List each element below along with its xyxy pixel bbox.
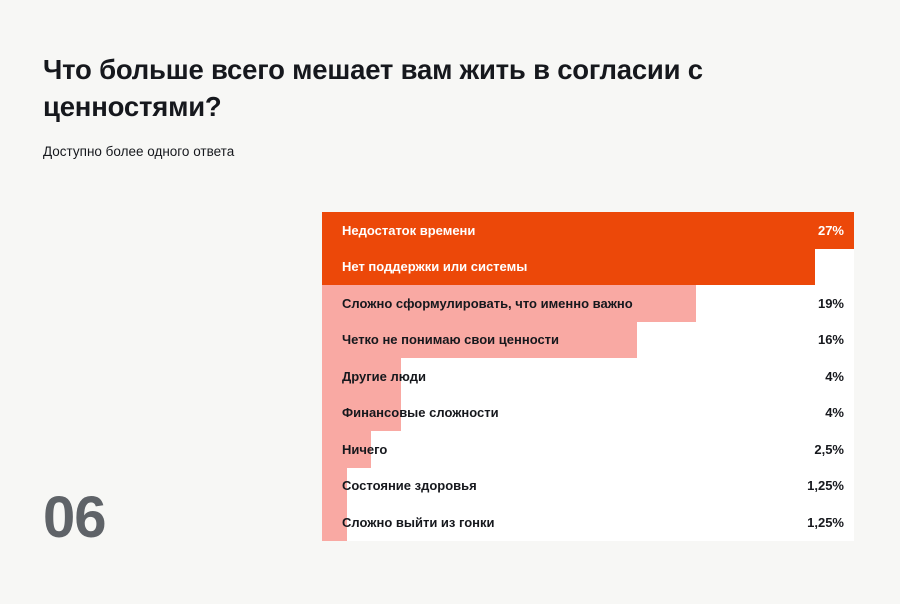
bar-category-label: Нет поддержки или системы	[342, 249, 527, 286]
bar-value-label: 25%	[818, 249, 844, 286]
bar-row: Финансовые сложности4%	[322, 395, 854, 432]
bar-value-label: 27%	[818, 212, 844, 249]
bar-row: Сложно сформулировать, что именно важно1…	[322, 285, 854, 322]
bar-row: Недостаток времени27%	[322, 212, 854, 249]
bar-category-label: Ничего	[342, 431, 387, 468]
bar-row: Сложно выйти из гонки1,25%	[322, 504, 854, 541]
page-title: Что больше всего мешает вам жить в согла…	[43, 52, 833, 125]
bar-category-label: Четко не понимаю свои ценности	[342, 322, 559, 359]
bar-row: Четко не понимаю свои ценности16%	[322, 322, 854, 359]
bar-value-label: 2,5%	[814, 431, 844, 468]
slide: Что больше всего мешает вам жить в согла…	[0, 0, 900, 604]
bar-row: Другие люди4%	[322, 358, 854, 395]
horizontal-bar-chart: Недостаток времени27%Нет поддержки или с…	[322, 212, 854, 549]
bar-value-label: 4%	[825, 358, 844, 395]
bar-track	[322, 431, 854, 468]
bar-value-label: 4%	[825, 395, 844, 432]
bar-category-label: Сложно выйти из гонки	[342, 504, 495, 541]
page-number: 06	[43, 484, 106, 551]
bar-category-label: Другие люди	[342, 358, 426, 395]
bar-row: Нет поддержки или системы25%	[322, 249, 854, 286]
bar-value-label: 19%	[818, 285, 844, 322]
bar-value-label: 1,25%	[807, 468, 844, 505]
bar-value-label: 16%	[818, 322, 844, 359]
page-subtitle: Доступно более одного ответа	[43, 144, 234, 159]
bar-category-label: Сложно сформулировать, что именно важно	[342, 285, 633, 322]
bar-value-label: 1,25%	[807, 504, 844, 541]
bar-category-label: Недостаток времени	[342, 212, 475, 249]
bar-category-label: Финансовые сложности	[342, 395, 499, 432]
bar-category-label: Состояние здоровья	[342, 468, 477, 505]
bar-row: Ничего2,5%	[322, 431, 854, 468]
bar-row: Состояние здоровья1,25%	[322, 468, 854, 505]
